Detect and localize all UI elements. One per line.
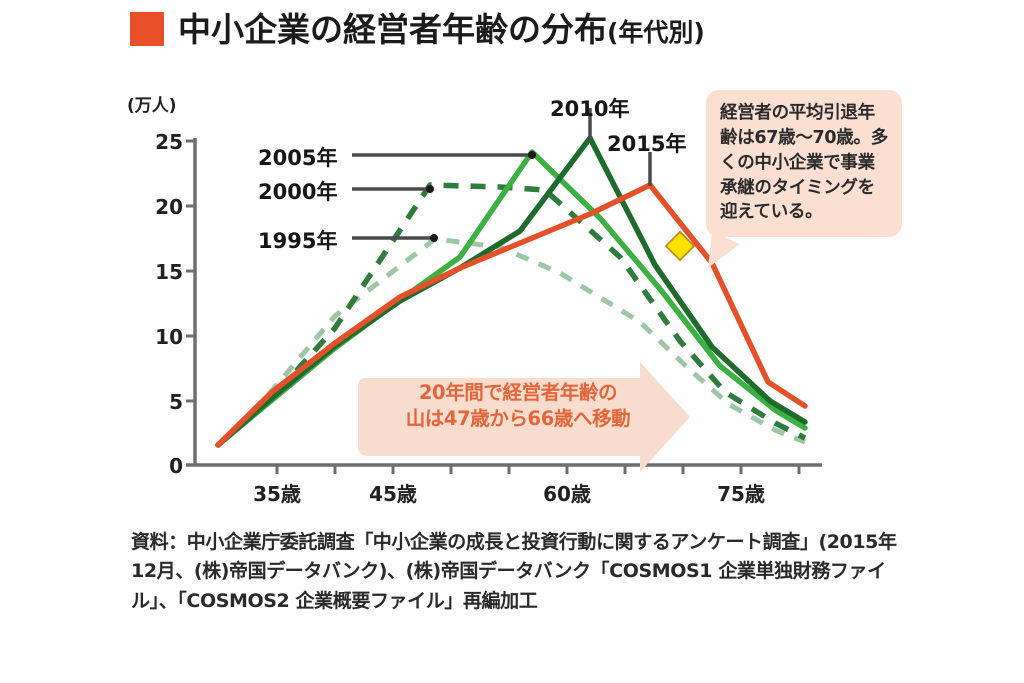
series-label-2010: 2010年: [550, 93, 629, 123]
y-axis-unit-label: (万人): [127, 91, 177, 116]
series-label-2015: 2015年: [607, 128, 686, 158]
trend-arrow-line2: 山は47歳から66歳へ移動: [373, 406, 663, 432]
source-note: 資料：中小企業庁委託調査「中小企業の成長と投資行動に関するアンケート調査」(20…: [131, 528, 901, 616]
x-tick-label-35: 35歳: [253, 478, 301, 507]
y-tick-label-10: 10: [141, 325, 183, 349]
callout-pointer: [708, 232, 740, 268]
y-tick-label-20: 20: [141, 195, 183, 219]
series-label-2005: 2005年: [258, 142, 337, 172]
y-tick-label-0: 0: [141, 454, 183, 478]
chart-page: 中小企業の経営者年齢の分布(年代別) (万人) 25 20 15 10 5 0 …: [0, 0, 1024, 683]
y-tick-label-5: 5: [141, 390, 183, 414]
x-tick-label-45: 45歳: [369, 478, 417, 507]
y-tick-label-15: 15: [141, 260, 183, 284]
x-tick-label-60: 60歳: [543, 478, 591, 507]
series-label-1995: 1995年: [258, 225, 337, 255]
trend-arrow-line1: 20年間で経営者年齢の: [373, 380, 663, 406]
trend-arrow-caption: 20年間で経営者年齢の 山は47歳から66歳へ移動: [373, 380, 663, 433]
series-label-2000: 2000年: [258, 176, 337, 206]
chart-canvas: (万人) 25 20 15 10 5 0 35歳 45歳 60歳 75歳: [0, 0, 1024, 520]
callout-box: 経営者の平均引退年齢は67歳〜70歳。多くの中小企業で事業承継のタイミングを迎え…: [706, 90, 902, 237]
y-tick-label-25: 25: [141, 130, 183, 154]
x-tick-label-75: 75歳: [717, 478, 765, 507]
